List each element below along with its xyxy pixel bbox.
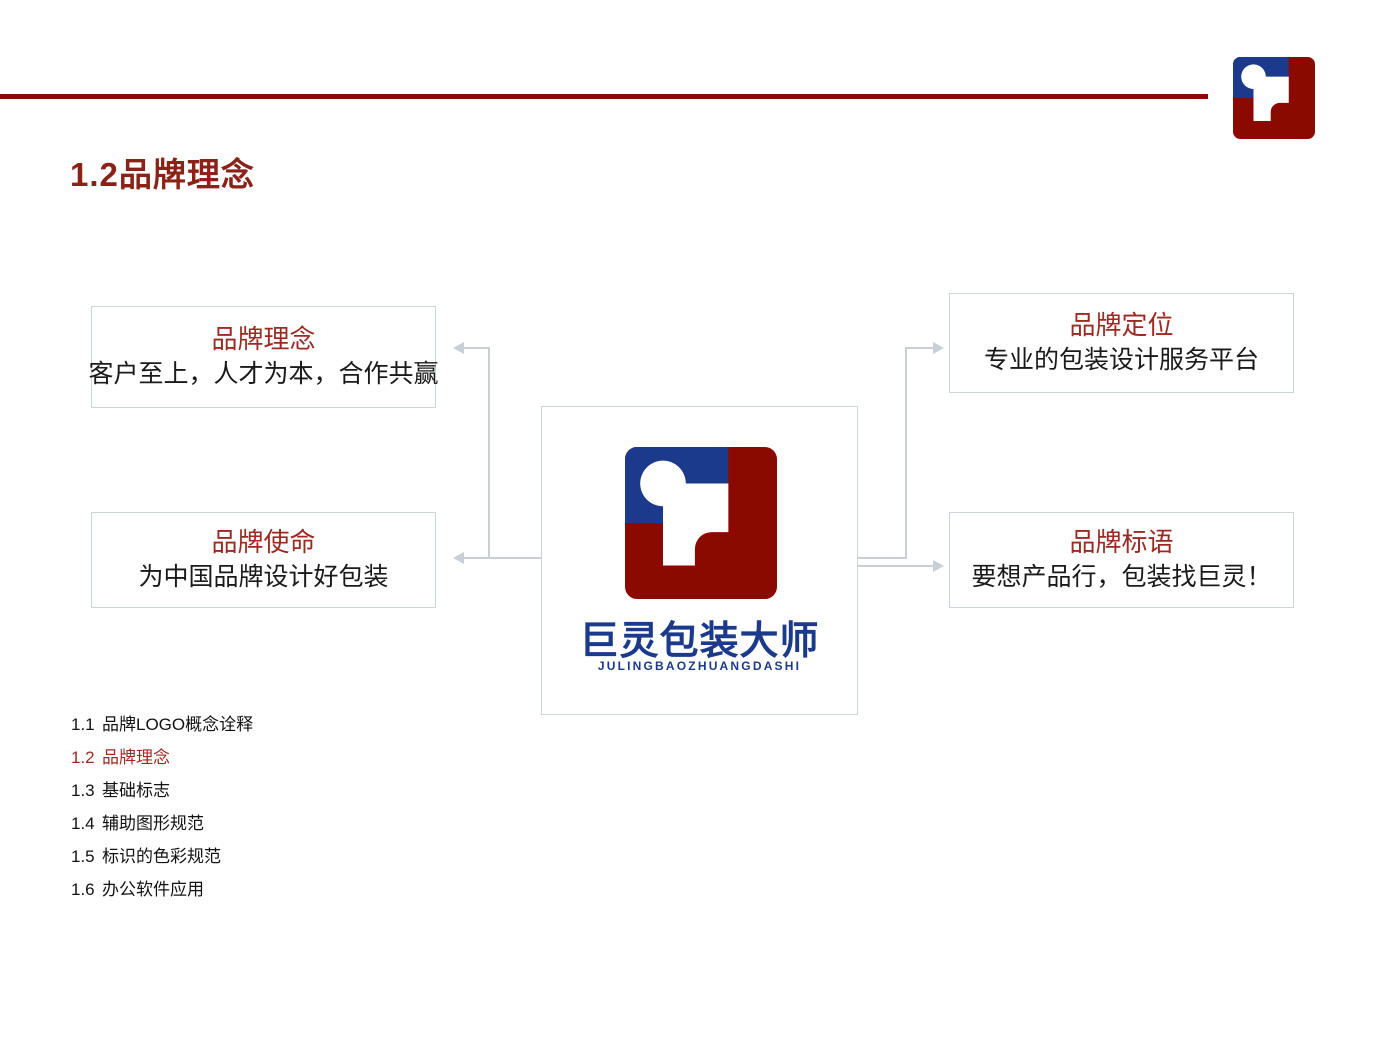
info-box-title: 品牌定位: [1069, 310, 1173, 343]
nav-item-number: 1.5: [71, 847, 102, 867]
nav-item-1-5[interactable]: 1.5 标识的色彩规范: [71, 842, 391, 875]
info-box-body: 客户至上，人才为本，合作共赢: [89, 359, 439, 390]
slide-canvas: 1.2品牌理念 品牌理念 客户至上，人才为本，合作共赢 品牌定位 专业的包装设计…: [0, 0, 1376, 1042]
page-title: 1.2品牌理念: [70, 148, 255, 196]
info-box-body: 为中国品牌设计好包装: [138, 562, 388, 593]
nav-item-1-2[interactable]: 1.2 品牌理念: [71, 743, 391, 776]
nav-item-number: 1.6: [71, 880, 102, 900]
header-rule: [0, 94, 1208, 99]
center-brand-logo-icon: [622, 447, 780, 599]
nav-item-label: 品牌理念: [102, 743, 170, 768]
nav-item-1-3[interactable]: 1.3 基础标志: [71, 776, 391, 809]
nav-item-1-6[interactable]: 1.6 办公软件应用: [71, 875, 391, 908]
info-box-slogan[interactable]: 品牌标语 要想产品行，包装找巨灵！: [949, 512, 1294, 608]
nav-item-number: 1.4: [71, 814, 102, 834]
nav-item-1-4[interactable]: 1.4 辅助图形规范: [71, 809, 391, 842]
nav-item-label: 办公软件应用: [102, 875, 204, 900]
info-box-position[interactable]: 品牌定位 专业的包装设计服务平台: [949, 293, 1294, 393]
info-box-title: 品牌使命: [211, 527, 315, 560]
info-box-title: 品牌标语: [1069, 527, 1173, 560]
corner-brand-logo-icon: [1233, 57, 1315, 139]
info-box-mission[interactable]: 品牌使命 为中国品牌设计好包装: [91, 512, 436, 608]
center-brand-panel[interactable]: 巨灵包装大师 JULINGBAOZHUANGDASHI: [541, 406, 858, 715]
nav-item-label: 品牌LOGO概念诠释: [102, 710, 253, 735]
info-box-body: 要想产品行，包装找巨灵！: [971, 562, 1271, 593]
nav-item-label: 基础标志: [102, 776, 170, 801]
brand-name-en: JULINGBAOZHUANGDASHI: [542, 659, 857, 673]
info-box-body: 专业的包装设计服务平台: [984, 345, 1259, 376]
brand-name-cn: 巨灵包装大师: [542, 610, 857, 666]
nav-item-number: 1.3: [71, 781, 102, 801]
nav-item-number: 1.2: [71, 748, 102, 768]
info-box-philosophy[interactable]: 品牌理念 客户至上，人才为本，合作共赢: [91, 306, 436, 408]
nav-item-label: 标识的色彩规范: [102, 842, 221, 867]
nav-item-1-1[interactable]: 1.1 品牌LOGO概念诠释: [71, 710, 391, 743]
info-box-title: 品牌理念: [211, 324, 315, 357]
nav-item-label: 辅助图形规范: [102, 809, 204, 834]
section-nav-list: 1.1 品牌LOGO概念诠释 1.2 品牌理念 1.3 基础标志 1.4 辅助图…: [71, 710, 391, 908]
nav-item-number: 1.1: [71, 715, 102, 735]
